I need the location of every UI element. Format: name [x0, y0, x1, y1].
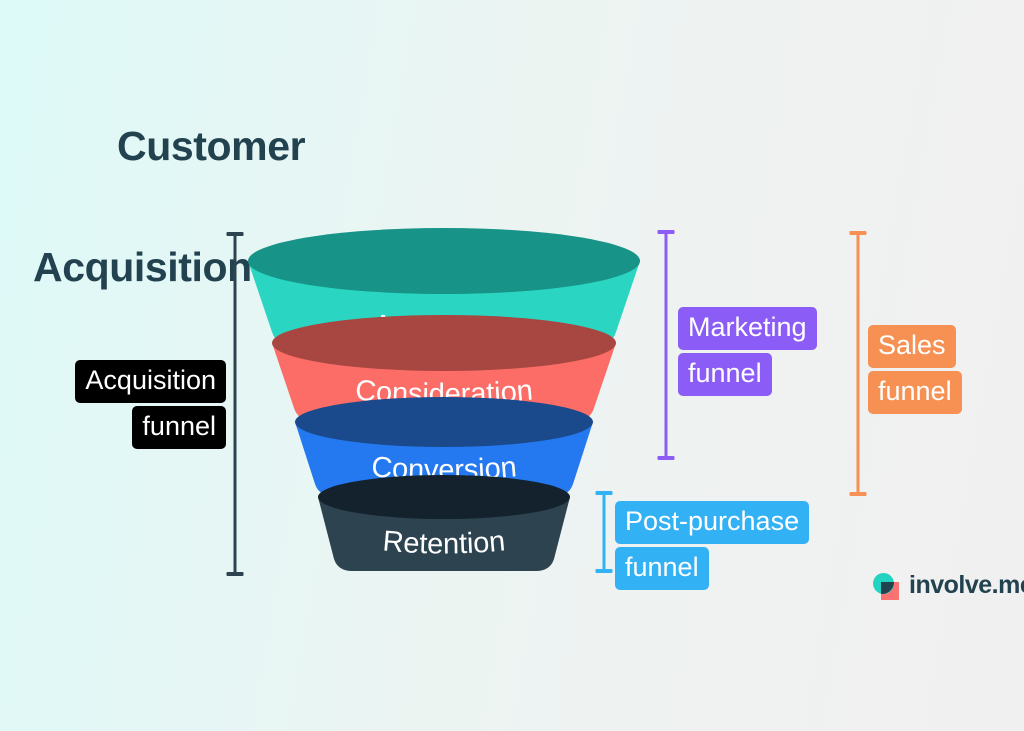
callout-line-2: funnel: [132, 406, 226, 449]
callout-line-1: Marketing: [678, 307, 817, 350]
callout-line-2: funnel: [678, 353, 772, 396]
bracket-cap-bottom: [226, 572, 243, 576]
callout-line-1: Sales: [868, 325, 956, 368]
callout-post-purchase-funnel[interactable]: Post-purchase funnel: [615, 501, 809, 590]
bracket-cap-bottom: [595, 569, 612, 573]
bracket-stem: [664, 230, 667, 460]
bracket-stem: [602, 491, 605, 573]
bracket-cap-bottom: [657, 456, 674, 460]
involve-me-logo[interactable]: involve.me: [872, 571, 1024, 600]
callout-marketing-funnel[interactable]: Marketing funnel: [678, 307, 817, 396]
logo-wordmark: involve.me: [909, 571, 1024, 600]
callout-line-2: funnel: [868, 371, 962, 414]
bracket-sales-funnel: [849, 231, 866, 496]
diagram-canvas: Customer Acquisition Funnel Awareness Co…: [0, 0, 1024, 731]
bracket-stem: [233, 232, 236, 576]
bracket-cap-bottom: [849, 492, 866, 496]
bracket-marketing-funnel: [657, 230, 674, 460]
logo-mark-icon: [872, 572, 900, 600]
callout-line-1: Post-purchase: [615, 501, 809, 544]
bracket-stem: [856, 231, 859, 496]
bracket-acquisition-funnel: [226, 232, 243, 576]
funnel-stage-label: Retention: [381, 525, 506, 560]
callout-line-2: funnel: [615, 547, 709, 590]
callout-sales-funnel[interactable]: Sales funnel: [868, 325, 962, 414]
callout-acquisition-funnel[interactable]: Acquisition funnel: [46, 360, 226, 449]
bracket-post-purchase-funnel: [595, 491, 612, 573]
callout-line-1: Acquisition: [75, 360, 226, 403]
funnel-stage-retention[interactable]: Retention: [318, 475, 570, 571]
